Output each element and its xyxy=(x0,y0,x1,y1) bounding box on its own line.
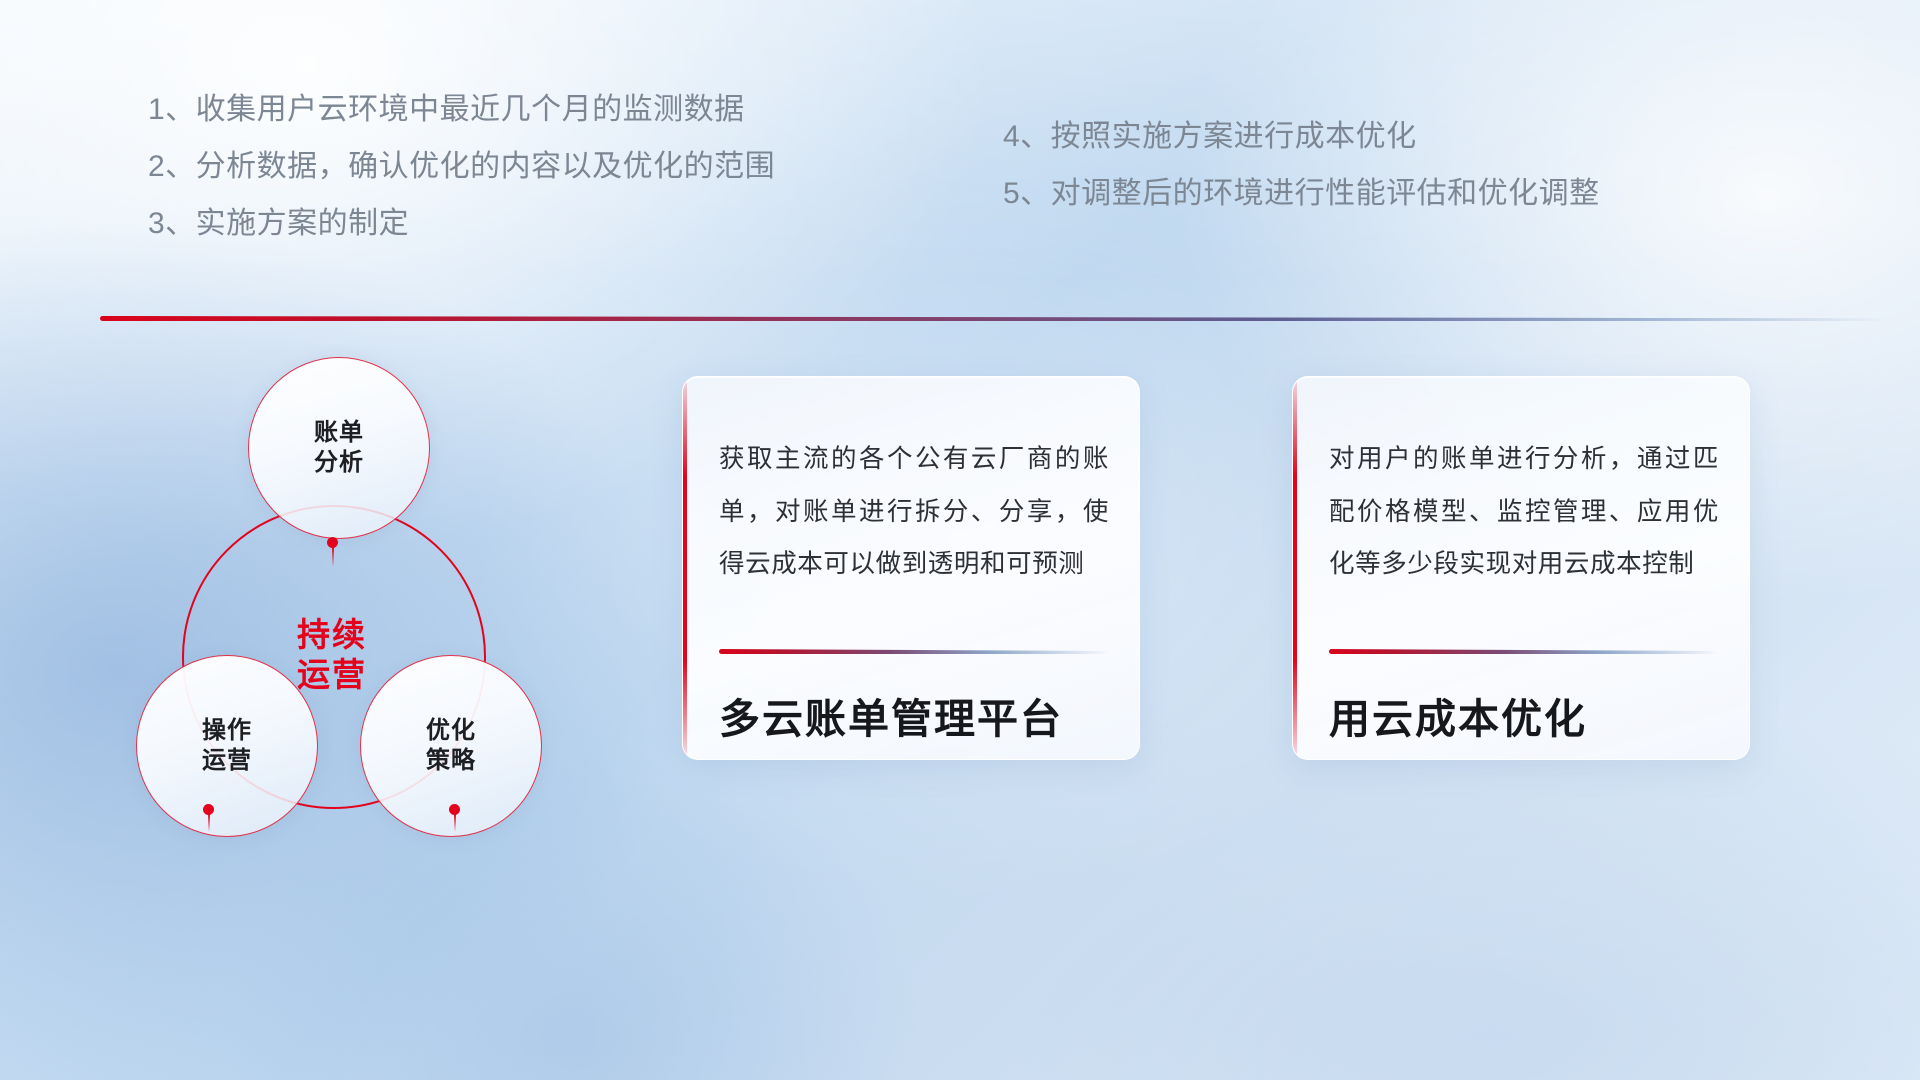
steps-right-column: 4、按照实施方案进行成本优化 5、对调整后的环境进行性能评估和优化调整 xyxy=(1003,122,1600,236)
steps-section: 1、收集用户云环境中最近几个月的监测数据 2、分析数据，确认优化的内容以及优化的… xyxy=(0,0,1920,270)
step-item-4: 4、按照实施方案进行成本优化 xyxy=(1003,122,1600,152)
venn-node-bill-analysis-line1: 账单 xyxy=(314,418,364,448)
venn-connector-bottom-left xyxy=(208,814,210,832)
step-item-1: 1、收集用户云环境中最近几个月的监测数据 xyxy=(148,95,775,125)
card-cloud-cost-optimization-title: 用云成本优化 xyxy=(1329,685,1729,745)
card-multicloud-billing-rule xyxy=(719,649,1109,654)
card-cloud-cost-optimization-body: 对用户的账单进行分析，通过匹配价格模型、监控管理、应用优化等多少段实现对用云成本… xyxy=(1329,433,1719,591)
step-item-2: 2、分析数据，确认优化的内容以及优化的范围 xyxy=(148,152,775,182)
card-cloud-cost-optimization-rule xyxy=(1329,649,1719,654)
step-item-3: 3、实施方案的制定 xyxy=(148,209,775,239)
card-multicloud-billing[interactable]: 获取主流的各个公有云厂商的账单，对账单进行拆分、分享，使得云成本可以做到透明和可… xyxy=(682,376,1140,760)
venn-diagram: 账单 分析 操作 运营 优化 策略 持续 运营 xyxy=(100,355,630,935)
venn-node-bill-analysis-line2: 分析 xyxy=(314,448,364,478)
venn-dot-bottom-right-icon xyxy=(449,804,460,815)
card-multicloud-billing-body: 获取主流的各个公有云厂商的账单，对账单进行拆分、分享，使得云成本可以做到透明和可… xyxy=(719,433,1109,591)
venn-center-line2: 运营 xyxy=(297,656,367,693)
venn-node-bill-analysis-label: 账单 分析 xyxy=(314,418,364,478)
card-multicloud-billing-title: 多云账单管理平台 xyxy=(719,685,1119,745)
venn-dot-bottom-left-icon xyxy=(203,804,214,815)
card-left-accent-bar xyxy=(683,377,687,759)
venn-center-line1: 持续 xyxy=(297,616,367,653)
venn-connector-top xyxy=(332,547,334,567)
step-item-5: 5、对调整后的环境进行性能评估和优化调整 xyxy=(1003,179,1600,209)
card-cloud-cost-optimization[interactable]: 对用户的账单进行分析，通过匹配价格模型、监控管理、应用优化等多少段实现对用云成本… xyxy=(1292,376,1750,760)
venn-dot-top-icon xyxy=(327,537,338,548)
steps-left-column: 1、收集用户云环境中最近几个月的监测数据 2、分析数据，确认优化的内容以及优化的… xyxy=(148,95,775,266)
venn-connector-bottom-right xyxy=(454,814,456,832)
card-left-accent-bar xyxy=(1293,377,1297,759)
